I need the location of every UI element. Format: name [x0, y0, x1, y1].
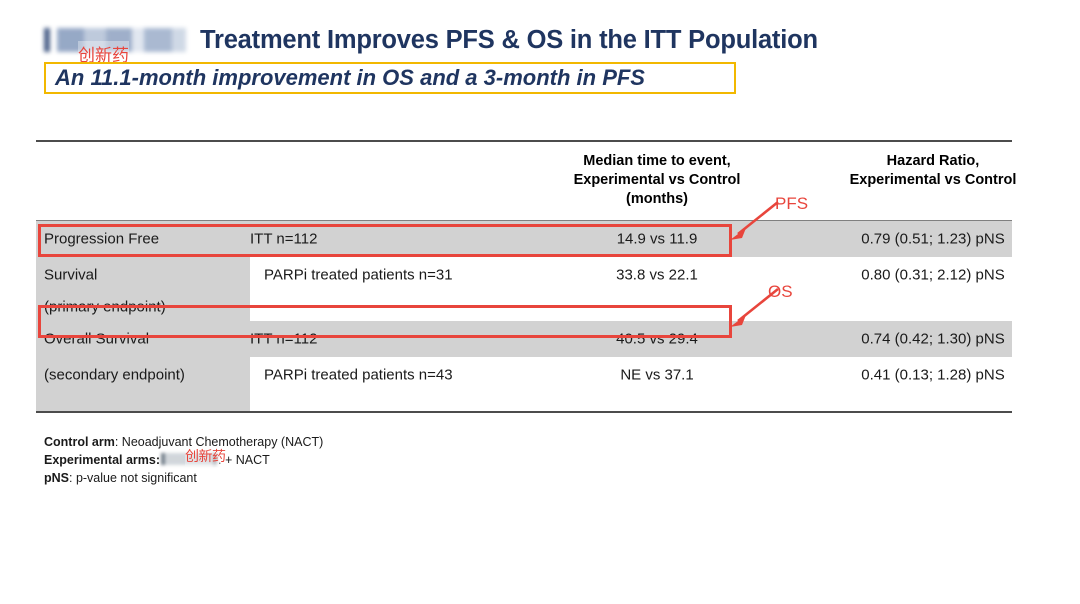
footnote-control-label: Control arm — [44, 435, 115, 449]
table-row-spacer — [36, 393, 1012, 411]
table-row: (secondary endpoint) PARPi treated patie… — [36, 357, 1012, 393]
column-header-median-time: Median time to event, Experimental vs Co… — [532, 152, 782, 209]
table-header-zone: Median time to event, Experimental vs Co… — [36, 142, 1012, 220]
cell-hazard: 0.79 (0.51; 1.23) pNS — [804, 231, 1062, 248]
median-header-line2: Experimental vs Control — [532, 171, 782, 190]
cell-population: PARPi treated patients n=31 — [250, 267, 544, 284]
cell-median: NE vs 37.1 — [532, 367, 782, 384]
median-header-line1: Median time to event, — [532, 152, 782, 171]
cell-endpoint: Survival — [44, 267, 97, 284]
cell-endpoint: Overall Survival — [44, 331, 149, 348]
footnote-experimental-arms: Experimental arms:. + NACT — [44, 451, 323, 469]
footnote-experimental-label: Experimental arms: — [44, 453, 160, 467]
table-row: Survival PARPi treated patients n=31 33.… — [36, 257, 1012, 293]
median-header-line3: (months) — [532, 190, 782, 209]
cell-population: ITT n=112 — [250, 331, 530, 348]
footnote-pns: pNS: p-value not significant — [44, 469, 323, 487]
cell-median: 40.5 vs 29.4 — [532, 331, 782, 348]
footnote-control-value: : Neoadjuvant Chemotherapy (NACT) — [115, 435, 323, 449]
cell-endpoint: Progression Free — [44, 231, 159, 248]
footnote-pns-value: : p-value not significant — [69, 471, 197, 485]
cell-endpoint: (secondary endpoint) — [44, 367, 185, 384]
footnote-control-arm: Control arm: Neoadjuvant Chemotherapy (N… — [44, 433, 323, 451]
table-row: (primary endpoint) — [36, 293, 1012, 321]
cell-median: 33.8 vs 22.1 — [532, 267, 782, 284]
annotation-label-pfs: PFS — [775, 194, 808, 214]
cell-population: PARPi treated patients n=43 — [250, 367, 544, 384]
table-row: Overall Survival ITT n=112 40.5 vs 29.4 … — [36, 321, 1012, 357]
results-table: Median time to event, Experimental vs Co… — [36, 140, 1012, 413]
cell-hazard: 0.41 (0.13; 1.28) pNS — [804, 367, 1062, 384]
table-row: Progression Free ITT n=112 14.9 vs 11.9 … — [36, 221, 1012, 257]
cell-median: 14.9 vs 11.9 — [532, 231, 782, 248]
slide-title-row: Treatment Improves PFS & OS in the ITT P… — [44, 22, 818, 58]
table-bottom-rule — [36, 411, 1012, 413]
cell-hazard: 0.80 (0.31; 2.12) pNS — [804, 267, 1062, 284]
cell-hazard: 0.74 (0.42; 1.30) pNS — [804, 331, 1062, 348]
page-title: Treatment Improves PFS & OS in the ITT P… — [200, 26, 818, 55]
chinese-watermark-drug: 创新药 — [185, 448, 226, 466]
hazard-header-line1: Hazard Ratio, — [804, 152, 1062, 171]
footnote-pns-label: pNS — [44, 471, 69, 485]
cell-endpoint: (primary endpoint) — [44, 299, 166, 316]
column-header-hazard-ratio: Hazard Ratio, Experimental vs Control — [804, 152, 1062, 190]
subtitle-callout-box: An 11.1-month improvement in OS and a 3-… — [44, 62, 736, 94]
cell-population: ITT n=112 — [250, 231, 530, 248]
endpoint-column-shading — [36, 393, 250, 411]
hazard-header-line2: Experimental vs Control — [804, 171, 1062, 190]
footnotes-block: Control arm: Neoadjuvant Chemotherapy (N… — [44, 433, 323, 487]
subtitle-text: An 11.1-month improvement in OS and a 3-… — [46, 65, 645, 91]
annotation-label-os: OS — [768, 282, 793, 302]
